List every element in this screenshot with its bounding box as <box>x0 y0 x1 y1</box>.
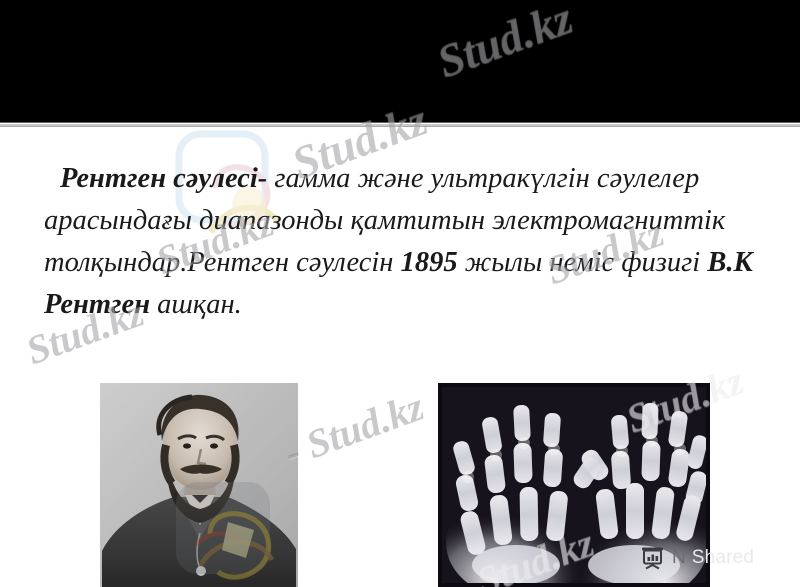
presentation-slide: Рентген сәулесі туралы жалпы түсінік Рен… <box>0 0 800 587</box>
body-lead-term: Рентген сәулесі- <box>60 163 267 194</box>
title-divider <box>0 122 800 130</box>
body-discovery-year: 1895 <box>401 247 458 278</box>
title-band <box>0 0 800 122</box>
slide-body-text: Рентген сәулесі- гамма және ультракүлгін… <box>44 158 756 326</box>
portrait-of-wilhelm-rontgen <box>100 383 298 587</box>
body-part-3: ашқан. <box>150 289 242 320</box>
x-ray-of-two-hands <box>438 383 710 587</box>
watermark-stud-kz: - Stud.kz <box>278 383 430 477</box>
body-part-2: жылы неміс физигі <box>458 247 708 278</box>
